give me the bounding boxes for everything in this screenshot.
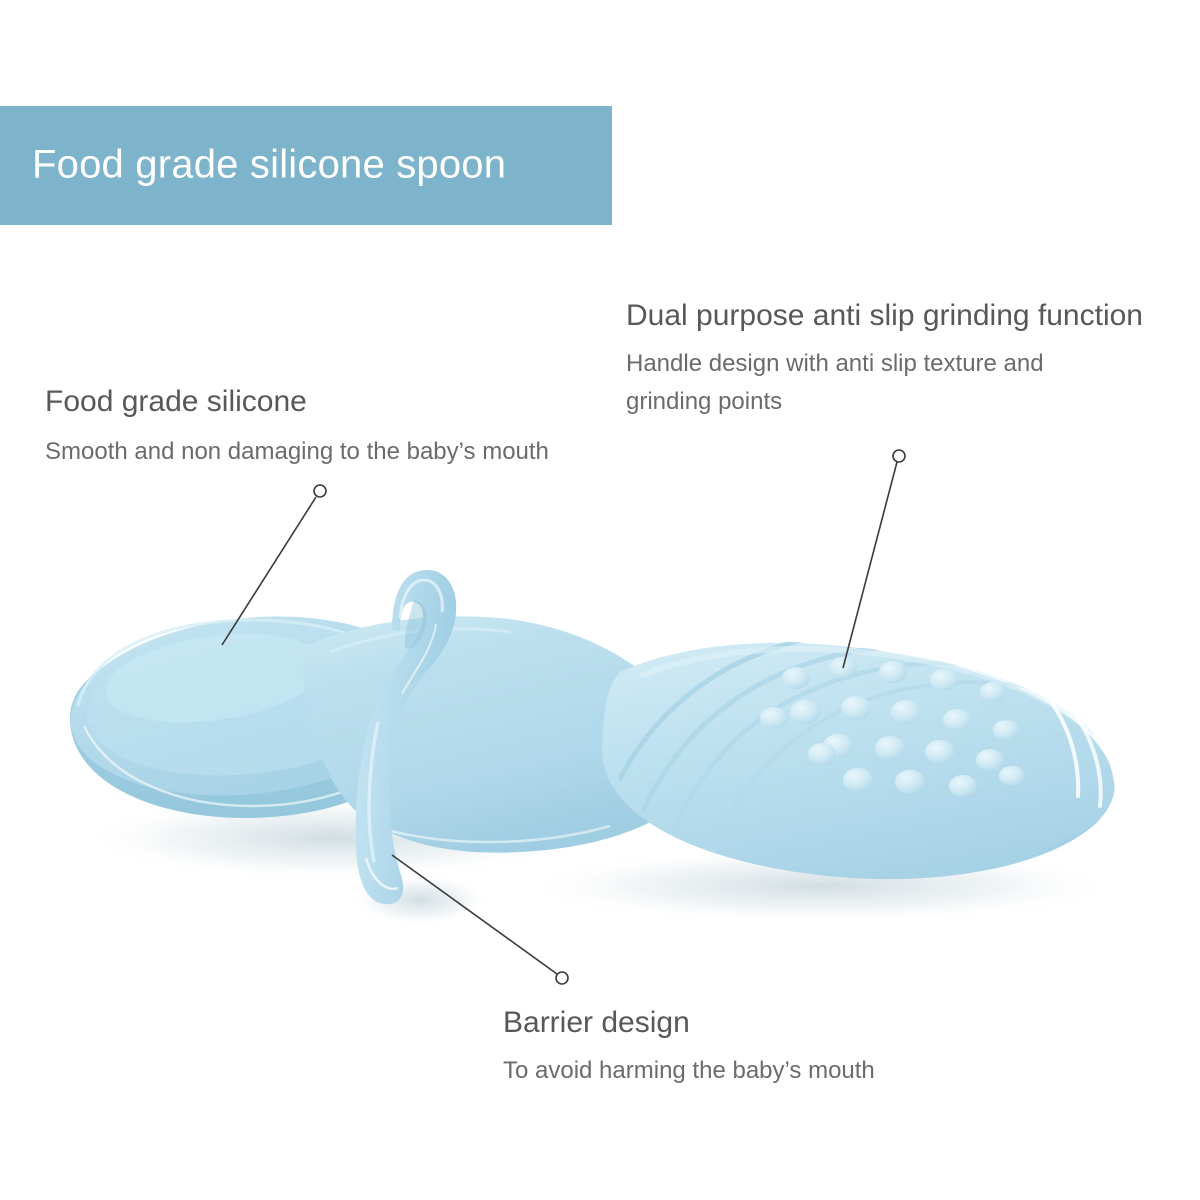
callout-subtitle-line: Smooth and non damaging to the baby’s mo… [45, 433, 549, 472]
callout-subtitle-dual-purpose: Handle design with anti slip texture and… [626, 345, 1143, 423]
callout-dual-purpose: Dual purpose anti slip grinding function… [626, 298, 1143, 422]
callout-barrier-design: Barrier design To avoid harming the baby… [503, 1005, 875, 1090]
callout-subtitle-food-grade: Smooth and non damaging to the baby’s mo… [45, 433, 549, 472]
callout-food-grade-silicone: Food grade silicone Smooth and non damag… [45, 384, 549, 471]
callout-subtitle-line: To avoid harming the baby’s mouth [503, 1052, 875, 1091]
banner-title: Food grade silicone spoon [32, 142, 506, 187]
callout-title-food-grade: Food grade silicone [45, 384, 549, 421]
product-infographic: Food grade silicone spoon Food grade sil… [0, 0, 1200, 1200]
callout-subtitle-line: Handle design with anti slip texture and [626, 345, 1143, 384]
callout-title-dual-purpose: Dual purpose anti slip grinding function [626, 298, 1143, 335]
callout-subtitle-line: grinding points [626, 383, 1143, 422]
callout-subtitle-barrier: To avoid harming the baby’s mouth [503, 1052, 875, 1091]
callout-title-barrier: Barrier design [503, 1005, 875, 1042]
header-banner: Food grade silicone spoon [0, 106, 612, 225]
